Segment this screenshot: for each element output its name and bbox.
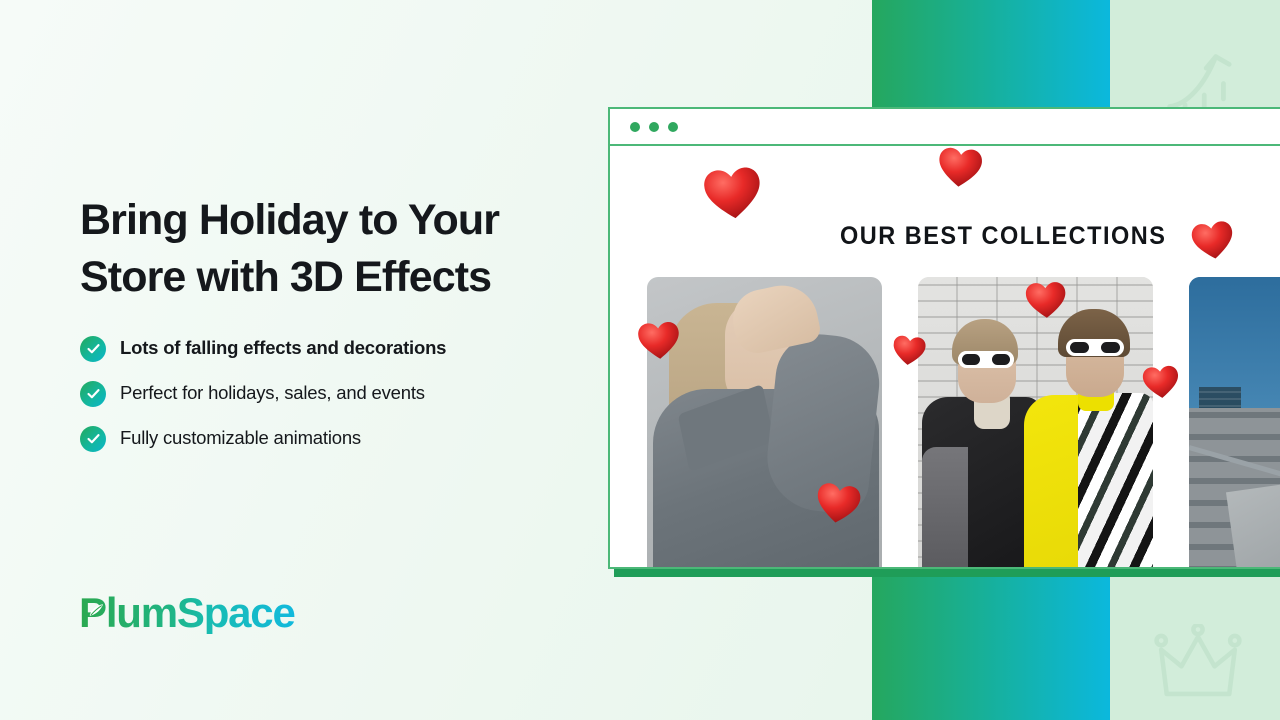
window-dot-icon[interactable]	[630, 122, 640, 132]
feature-list: Lots of falling effects and decorations …	[80, 336, 550, 452]
list-item: Lots of falling effects and decorations	[80, 336, 550, 362]
list-item: Fully customizable animations	[80, 426, 550, 452]
product-card-3[interactable]	[1189, 277, 1280, 567]
product-card-2[interactable]	[918, 277, 1153, 567]
section-heading: OUR BEST COLLECTIONS	[840, 222, 1166, 251]
check-circle-icon	[80, 336, 106, 362]
browser-titlebar	[610, 109, 1280, 146]
card1-sleeve	[762, 330, 882, 516]
card2-chevron	[1078, 393, 1153, 567]
list-item: Perfect for holidays, sales, and events	[80, 381, 550, 407]
promo-slide: Bring Holiday to Your Store with 3D Effe…	[0, 0, 1280, 720]
card2-model2-sunglasses-icon	[1066, 339, 1124, 356]
browser-frame: OUR BEST COLLECTIONS	[608, 107, 1280, 569]
window-dot-icon[interactable]	[649, 122, 659, 132]
check-circle-icon	[80, 381, 106, 407]
product-card-row	[647, 277, 1280, 567]
list-item-label: Lots of falling effects and decorations	[120, 337, 446, 359]
browser-mockup: OUR BEST COLLECTIONS	[608, 107, 1280, 569]
list-item-label: Fully customizable animations	[120, 427, 361, 449]
list-item-label: Perfect for holidays, sales, and events	[120, 382, 425, 404]
card2-grey-panel	[922, 447, 968, 567]
card2-model1-sunglasses-icon	[958, 351, 1014, 368]
hero-copy: Bring Holiday to Your Store with 3D Effe…	[80, 192, 550, 471]
product-card-1[interactable]	[647, 277, 882, 567]
brand-logo[interactable]: PlumSpace	[79, 592, 295, 634]
brand-logo-text: PlumSpace	[79, 592, 295, 634]
check-circle-icon	[80, 426, 106, 452]
leaf-icon	[88, 603, 104, 617]
window-dot-icon[interactable]	[668, 122, 678, 132]
browser-viewport: OUR BEST COLLECTIONS	[610, 146, 1280, 567]
page-title: Bring Holiday to Your Store with 3D Effe…	[80, 192, 550, 306]
